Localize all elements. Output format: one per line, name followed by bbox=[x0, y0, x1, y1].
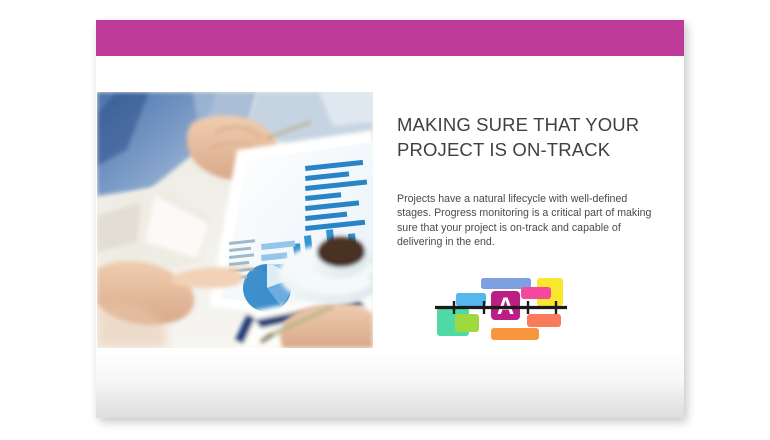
presentation-slide: MAKING SURE THAT YOUR PROJECT IS ON-TRAC… bbox=[96, 20, 684, 418]
bar-pink bbox=[521, 287, 551, 299]
slide-bottom-gradient bbox=[96, 348, 684, 418]
screenshot-root: MAKING SURE THAT YOUR PROJECT IS ON-TRAC… bbox=[0, 0, 770, 440]
slide-photo bbox=[97, 92, 373, 348]
gantt-timeline-graphic: A bbox=[433, 266, 583, 346]
bar-lime bbox=[455, 314, 479, 332]
slide-content: MAKING SURE THAT YOUR PROJECT IS ON-TRAC… bbox=[397, 112, 659, 250]
slide-body-text: Projects have a natural lifecycle with w… bbox=[397, 162, 659, 250]
bar-salmon bbox=[527, 314, 561, 327]
slide-title: MAKING SURE THAT YOUR PROJECT IS ON-TRAC… bbox=[397, 112, 659, 162]
slide-header-banner bbox=[96, 20, 684, 56]
bar-orange bbox=[491, 328, 539, 340]
bar-blue-light bbox=[456, 293, 486, 306]
